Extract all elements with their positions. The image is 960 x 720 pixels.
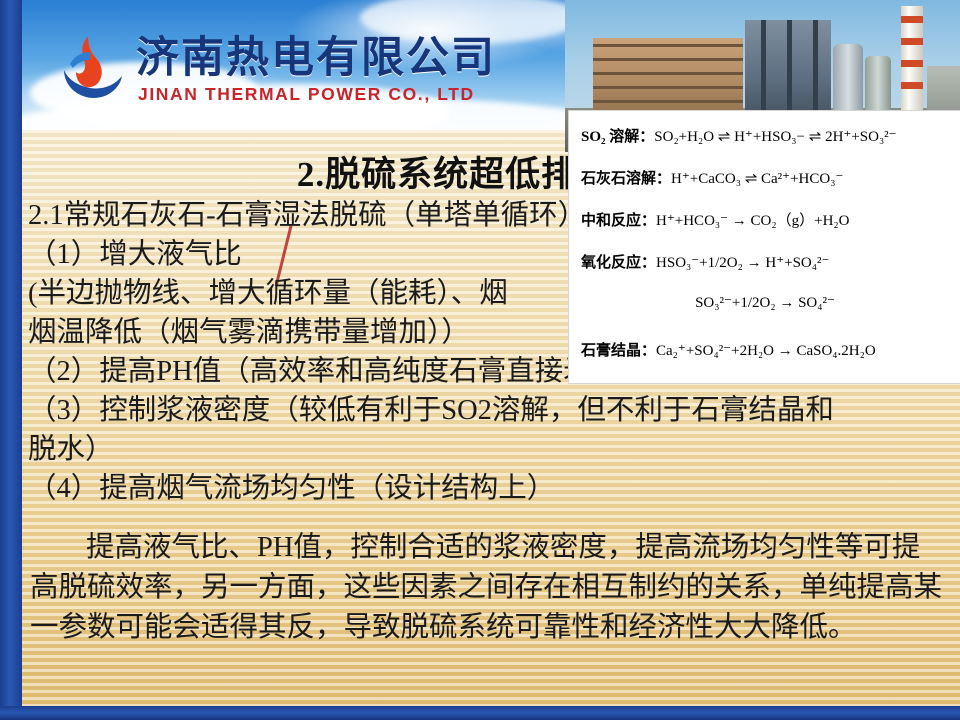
company-logo: 济南热电有限公司 JINAN THERMAL POWER CO., LTD — [58, 34, 498, 108]
chem-equation: Ca₂⁺+SO₄²⁻+2H₂O → CaSO₄.2H₂O — [656, 343, 876, 359]
photo-building-line — [593, 86, 743, 89]
chem-equation: H⁺+HCO₃⁻ → CO₂（g）+H₂O — [656, 213, 849, 229]
chimney-band — [901, 60, 923, 67]
chemistry-reactions-overlay: SO₂ 溶解：SO₂+H₂O ⇌ H⁺+HSO₃− ⇌ 2H⁺+SO₃²⁻ 石灰… — [568, 110, 960, 384]
chimney-band — [901, 16, 923, 23]
chem-label: 氧化反应： — [581, 255, 656, 271]
content-line: （3）控制浆液密度（较低有利于SO2溶解，但不利于石膏结晶和 — [28, 391, 952, 430]
photo-steel-column — [813, 20, 818, 120]
photo-steel-column — [787, 20, 792, 120]
chem-equation: HSO₃⁻+1/2O₂ → H⁺+SO₄²⁻ — [656, 255, 829, 271]
photo-building-line — [593, 72, 743, 75]
summary-paragraph: 提高液气比、PH值，控制合适的浆液密度，提高流场均匀性等可提高脱硫效率，另一方面… — [30, 528, 948, 648]
photo-building-line — [593, 58, 743, 61]
chem-label: 石灰石溶解： — [581, 171, 671, 187]
chem-row-label: SO₂ 溶解：SO₂+H₂O ⇌ H⁺+HSO₃− ⇌ 2H⁺+SO₃²⁻ — [581, 125, 897, 146]
chem-equation: H⁺+CaCO₃ ⇌ Ca²⁺+HCO₃⁻ — [671, 171, 843, 187]
logo-company-name-en: JINAN THERMAL POWER CO., LTD — [138, 84, 475, 105]
photo-steel-column — [761, 20, 766, 120]
photo-absorber-tower — [833, 44, 863, 120]
photo-building-line — [593, 44, 743, 47]
photo-building-line — [593, 100, 743, 103]
photo-chimney — [901, 6, 923, 120]
photo-building — [593, 38, 743, 120]
content-line: （4）提高烟气流场均匀性（设计结构上） — [28, 469, 952, 508]
left-blue-bar — [0, 0, 22, 720]
chem-equation-centered: SO₃²⁻+1/2O₂ → SO₄²⁻ — [569, 293, 960, 312]
chem-label: SO₂ 溶解： — [581, 129, 654, 145]
chem-label: 中和反应： — [581, 213, 656, 229]
chem-equation: SO₂+H₂O ⇌ H⁺+HSO₃− ⇌ 2H⁺+SO₃²⁻ — [654, 129, 896, 145]
logo-company-name-cn: 济南热电有限公司 — [136, 34, 496, 82]
chem-row-label: 中和反应：H⁺+HCO₃⁻ → CO₂（g）+H₂O — [581, 209, 849, 230]
chem-label: 石膏结晶： — [581, 343, 656, 359]
content-line: 脱水） — [28, 430, 952, 469]
chem-row-label: 氧化反应：HSO₃⁻+1/2O₂ → H⁺+SO₄²⁻ — [581, 251, 829, 272]
chem-row-label: 石灰石溶解：H⁺+CaCO₃ ⇌ Ca²⁺+HCO₃⁻ — [581, 167, 843, 188]
chimney-band — [901, 38, 923, 45]
bottom-blue-bar — [0, 706, 960, 720]
flame-swoosh-logo-icon — [58, 34, 124, 100]
slide-root: 济南热电有限公司 JINAN THERMAL POWER CO., LTD 2.… — [0, 0, 960, 720]
chimney-band — [901, 82, 923, 89]
chem-row-label: 石膏结晶：Ca₂⁺+SO₄²⁻+2H₂O → CaSO₄.2H₂O — [581, 339, 876, 360]
